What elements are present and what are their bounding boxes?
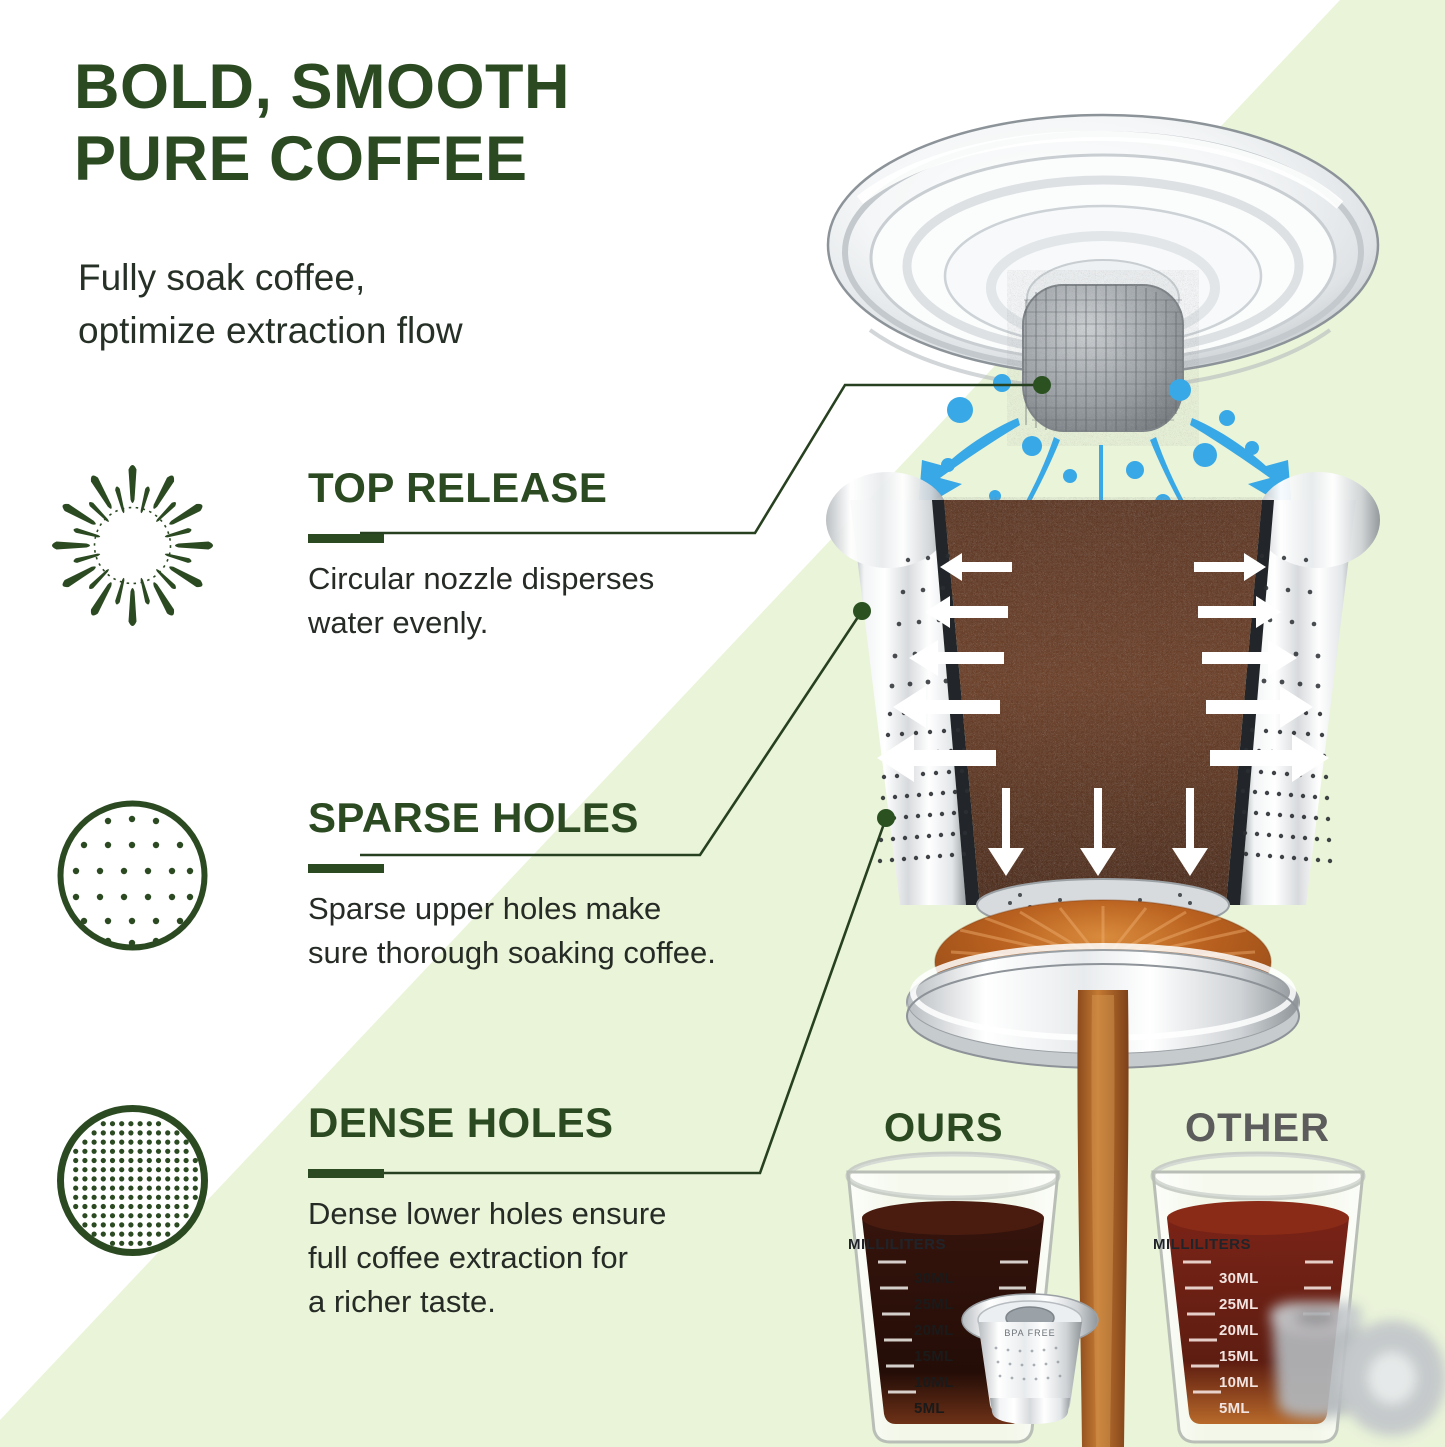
tick-10ml-ours: 10ML bbox=[914, 1374, 954, 1391]
mesh-nozzle bbox=[1023, 285, 1183, 431]
tick-5ml-other: 5ML bbox=[1219, 1400, 1250, 1417]
tick-10ml-other: 10ML bbox=[1219, 1374, 1259, 1391]
feature-description: Dense lower holes ensure full coffee ext… bbox=[308, 1192, 762, 1324]
title-line-1: BOLD, SMOOTH bbox=[74, 52, 794, 124]
tick-25ml-ours: 25ML bbox=[914, 1296, 954, 1313]
product-infographic: BPA FREE BOLD, SMOOTH PURE COFFEE Fully … bbox=[0, 0, 1445, 1447]
feature-divider bbox=[308, 533, 762, 543]
glass-markings-ours: MILLILITERS 30ML 25ML 20ML 15ML 10ML 5ML bbox=[840, 1158, 1060, 1438]
comparison-label-ours: OURS bbox=[884, 1106, 1004, 1151]
feature-divider bbox=[308, 1168, 762, 1178]
tick-5ml-ours: 5ML bbox=[914, 1400, 945, 1417]
tick-15ml-ours: 15ML bbox=[914, 1348, 954, 1365]
capsule-lid bbox=[828, 115, 1378, 431]
feature-title: SPARSE HOLES bbox=[308, 797, 762, 839]
dense-dots-circle-icon bbox=[50, 1098, 215, 1263]
feature-description: Circular nozzle disperses water evenly. bbox=[308, 557, 762, 645]
tick-15ml-other: 15ML bbox=[1219, 1348, 1259, 1365]
subtitle-line-2: optimize extraction flow bbox=[78, 305, 718, 358]
tick-20ml-other: 20ML bbox=[1219, 1322, 1259, 1339]
tick-30ml-other: 30ML bbox=[1219, 1270, 1259, 1287]
radial-burst-icon bbox=[50, 463, 215, 628]
page-subtitle: Fully soak coffee, optimize extraction f… bbox=[78, 252, 718, 357]
unit-label-ours: MILLILITERS bbox=[848, 1236, 1008, 1253]
unit-label-other: MILLILITERS bbox=[1153, 1236, 1313, 1253]
sparse-dots-circle-icon bbox=[50, 793, 215, 958]
glass-markings-other: MILLILITERS 30ML 25ML 20ML 15ML 10ML 5ML bbox=[1145, 1158, 1365, 1438]
tick-30ml-ours: 30ML bbox=[914, 1270, 954, 1287]
comparison-label-other: OTHER bbox=[1185, 1106, 1330, 1151]
feature-title: DENSE HOLES bbox=[308, 1102, 762, 1144]
feature-divider bbox=[308, 863, 762, 873]
tick-20ml-ours: 20ML bbox=[914, 1322, 954, 1339]
subtitle-line-1: Fully soak coffee, bbox=[78, 252, 718, 305]
tick-25ml-other: 25ML bbox=[1219, 1296, 1259, 1313]
title-line-2: PURE COFFEE bbox=[74, 124, 794, 196]
feature-description: Sparse upper holes make sure thorough so… bbox=[308, 887, 762, 975]
page-title: BOLD, SMOOTH PURE COFFEE bbox=[74, 52, 794, 196]
feature-title: TOP RELEASE bbox=[308, 467, 762, 509]
